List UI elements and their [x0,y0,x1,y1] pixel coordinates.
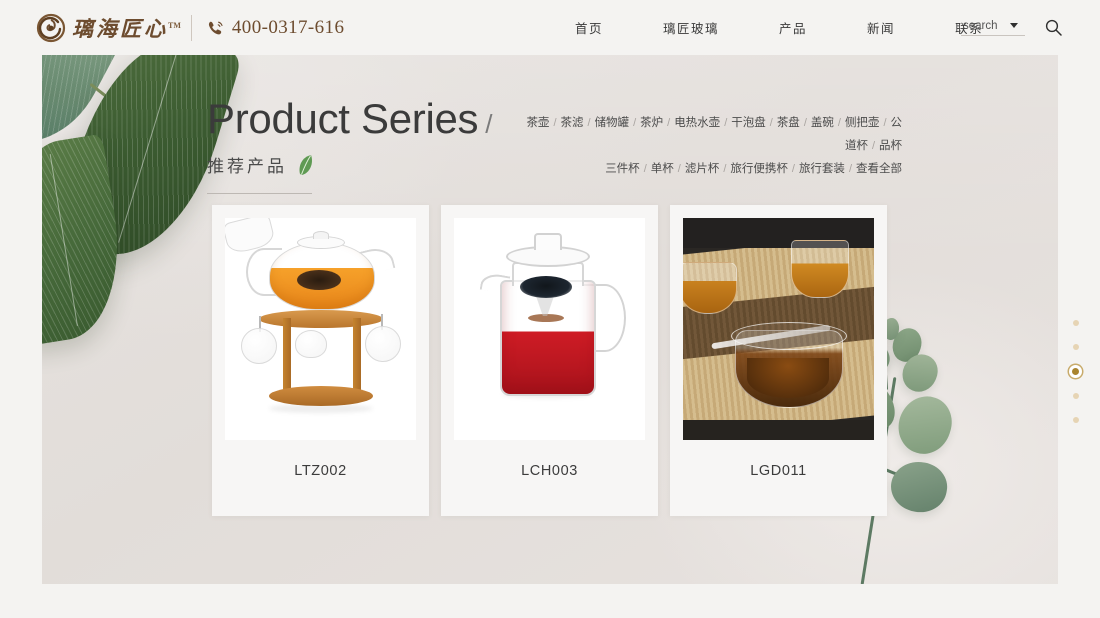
nav-item-home[interactable]: 首页 [575,18,603,37]
section-scroll-indicator [1072,311,1079,432]
glass-teapot-with-infuser-image [454,218,645,440]
category-separator: / [644,163,647,175]
hero-banner: Product Series/ 推荐产品 茶壶/茶滤/储物罐/茶炉/电热水壶/干… [42,55,1058,584]
search-input[interactable]: search [961,20,1025,36]
section-title-block: Product Series/ 推荐产品 [207,98,492,194]
category-link-chalu[interactable]: 茶炉 [640,117,663,129]
category-separator: / [667,117,670,129]
product-image [454,218,645,440]
scroll-dot-5[interactable] [1073,417,1079,423]
title-slash: / [485,109,492,139]
category-separator: / [553,117,556,129]
swirl-seal-icon [36,13,66,43]
category-link-view-all[interactable]: 查看全部 [856,163,902,175]
product-image [683,218,874,440]
category-separator: / [804,117,807,129]
title-underline [207,193,312,194]
product-card[interactable]: LCH003 [441,205,658,516]
category-link-lvpianbei[interactable]: 滤片杯 [685,163,720,175]
category-link-sanjianbei[interactable]: 三件杯 [605,163,640,175]
phone-block[interactable]: 400-0317-616 [206,17,344,39]
site-header: 璃海匠心TM 400-0317-616 首页 璃匠玻璃 产品 新闻 联系 [0,0,1100,55]
nav-item-products[interactable]: 产品 [779,18,807,37]
brand-name: 璃海匠心TM [72,13,181,43]
category-link-chapan[interactable]: 茶盘 [777,117,800,129]
category-link-gaiwan[interactable]: 盖碗 [811,117,834,129]
category-separator: / [633,117,636,129]
magnifier-icon[interactable] [1045,19,1062,36]
search-area: search [961,0,1062,55]
product-card[interactable]: LGD011 [670,205,887,516]
category-separator: / [723,163,726,175]
search-input-value: search [963,20,998,32]
product-name: LGD011 [670,463,887,479]
nav-item-about[interactable]: 璃匠玻璃 [663,18,719,37]
product-card-list: LTZ002 LCH003 [212,205,887,516]
category-link-chalv[interactable]: 茶滤 [561,117,584,129]
category-filter-list: 茶壶/茶滤/储物罐/茶炉/电热水壶/干泡盘/茶盘/盖碗/侧把壶/公道杯/品杯 三… [522,111,902,180]
category-separator: / [588,117,591,129]
category-link-ganpaopan[interactable]: 干泡盘 [731,117,766,129]
category-separator: / [883,117,886,129]
category-link-chuwuguan[interactable]: 储物罐 [595,117,630,129]
scroll-dot-3-active[interactable] [1072,368,1079,375]
green-leaf-icon [297,154,316,176]
header-divider [191,15,192,41]
product-image [225,218,416,440]
branch-leaf-5 [891,389,958,460]
phone-ringing-icon [206,19,225,38]
category-link-lvxingtaozhuang[interactable]: 旅行套装 [799,163,845,175]
page-title: Product Series/ [207,98,492,140]
category-link-chahu[interactable]: 茶壶 [526,117,549,129]
main-navigation: 首页 璃匠玻璃 产品 新闻 联系 [575,0,983,55]
scroll-dot-4[interactable] [1073,393,1079,399]
subtitle-row: 推荐产品 [207,152,492,177]
category-link-cebahu[interactable]: 侧把壶 [845,117,880,129]
brand-name-text: 璃海匠心 [72,17,168,41]
category-link-danbei[interactable]: 单杯 [651,163,674,175]
category-separator: / [678,163,681,175]
page-subtitle: 推荐产品 [207,152,287,177]
scroll-dot-1[interactable] [1073,320,1079,326]
category-separator: / [838,117,841,129]
product-card[interactable]: LTZ002 [212,205,429,516]
page-root: 璃海匠心TM 400-0317-616 首页 璃匠玻璃 产品 新闻 联系 [0,0,1100,618]
category-link-pinbei[interactable]: 品杯 [879,140,902,152]
category-separator: / [849,163,852,175]
product-name: LTZ002 [212,463,429,479]
page-title-text: Product Series [207,95,478,142]
category-separator: / [770,117,773,129]
category-separator: / [724,117,727,129]
scroll-dot-2[interactable] [1073,344,1079,350]
phone-number: 400-0317-616 [232,17,344,39]
category-link-lvxingbianxiebei[interactable]: 旅行便携杯 [730,163,788,175]
glass-teapot-on-wooden-stand-image [225,218,416,440]
brand-logo[interactable]: 璃海匠心TM 400-0317-616 [36,9,344,47]
category-separator: / [792,163,795,175]
product-name: LCH003 [441,463,658,479]
glass-bowl-on-bamboo-mat-photo [683,218,874,440]
chevron-down-icon[interactable] [1010,23,1018,28]
category-link-dianreshuihu[interactable]: 电热水壶 [674,117,720,129]
branch-leaf-6 [887,458,951,517]
trademark-mark: TM [168,21,181,30]
nav-item-news[interactable]: 新闻 [867,18,895,37]
category-separator: / [872,140,875,152]
